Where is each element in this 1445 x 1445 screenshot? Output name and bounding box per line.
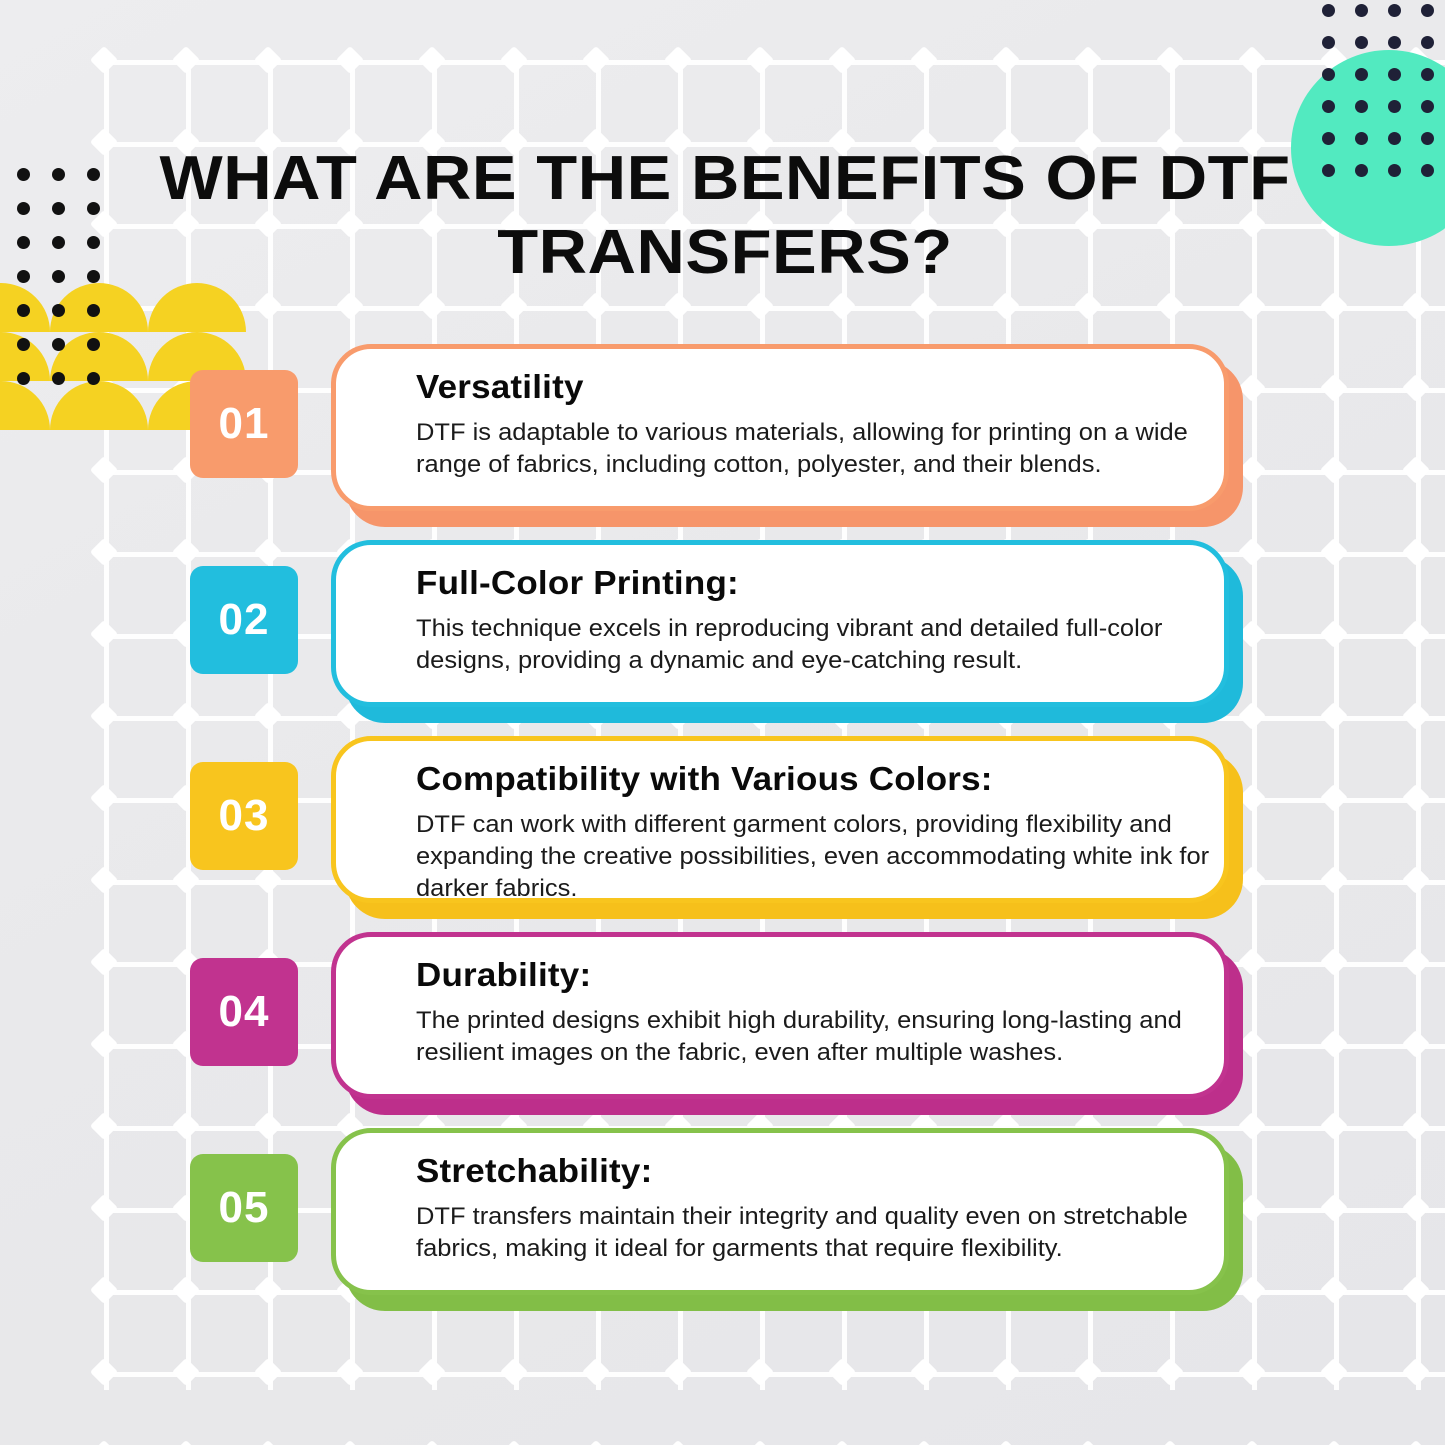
decorative-dot [1322,164,1335,177]
benefit-number-label: 04 [219,987,270,1037]
grid-diamond [664,292,692,320]
decorative-dot [87,202,100,215]
benefit-card-body: Durability:The printed designs exhibit h… [331,932,1229,1099]
decorative-dot [87,372,100,385]
benefit-number-label: 03 [219,791,270,841]
decorative-dot [1355,100,1368,113]
grid-diamond [90,128,118,156]
grid-diamond [418,46,446,74]
benefit-row: 02Full-Color Printing:This technique exc… [0,536,1445,732]
decorative-dot [87,168,100,181]
grid-diamond [828,1358,856,1386]
grid-diamond [1238,1358,1266,1386]
grid-diamond [910,1358,938,1386]
decorative-dot [1388,100,1401,113]
benefits-list: 01VersatilityDTF is adaptable to various… [0,340,1445,1320]
decorative-dot [52,168,65,181]
page-title: WHAT ARE THE BENEFITS OF DTF TRANSFERS? [136,142,1313,290]
grid-diamond [746,292,774,320]
benefit-card[interactable]: Compatibility with Various Colors:DTF ca… [331,736,1229,903]
benefit-number-badge[interactable]: 03 [190,762,298,870]
grid-diamond [500,1440,528,1445]
grid-diamond [582,292,610,320]
grid-diamond [746,46,774,74]
benefit-number-badge[interactable]: 04 [190,958,298,1066]
decorative-dot [1388,132,1401,145]
decorative-dot [1322,68,1335,81]
decorative-dot [1355,68,1368,81]
benefit-description: DTF can work with different garment colo… [416,809,1221,903]
decorative-dot [52,372,65,385]
benefit-card-body: Stretchability:DTF transfers maintain th… [331,1128,1229,1295]
decorative-dot [1388,164,1401,177]
decorative-dot [1355,132,1368,145]
grid-diamond [90,1358,118,1386]
benefit-heading: Versatility [416,367,1229,407]
grid-diamond [1402,1358,1430,1386]
decorative-dot [1388,68,1401,81]
benefit-card[interactable]: Stretchability:DTF transfers maintain th… [331,1128,1229,1295]
decorative-dot [1421,164,1434,177]
benefit-row: 05Stretchability:DTF transfers maintain … [0,1124,1445,1320]
decorative-dot [52,202,65,215]
grid-diamond [992,46,1020,74]
decorative-dot [1421,68,1434,81]
grid-diamond [746,1358,774,1386]
benefit-number-label: 02 [219,595,270,645]
grid-diamond [172,1440,200,1445]
grid-diamond [254,292,282,320]
grid-diamond [1238,46,1266,74]
decorative-dot [1388,4,1401,17]
benefit-heading: Compatibility with Various Colors: [416,759,1229,799]
grid-diamond [582,1358,610,1386]
benefit-number-badge[interactable]: 01 [190,370,298,478]
benefit-description: DTF is adaptable to various materials, a… [416,417,1221,481]
grid-diamond [172,1358,200,1386]
grid-diamond [1402,1440,1430,1445]
decorative-dot [1322,36,1335,49]
benefit-description: This technique excels in reproducing vib… [416,613,1221,677]
decorative-dot [87,270,100,283]
grid-diamond [992,1358,1020,1386]
grid-diamond [582,46,610,74]
grid-diamond [336,46,364,74]
decorative-dot [1322,132,1335,145]
decorative-dot [87,304,100,317]
decorative-dot [1388,36,1401,49]
grid-diamond [1320,1358,1348,1386]
grid-diamond [1074,46,1102,74]
benefit-card-body: Compatibility with Various Colors:DTF ca… [331,736,1229,903]
grid-diamond [90,1440,118,1445]
decorative-dot [17,168,30,181]
benefit-card[interactable]: VersatilityDTF is adaptable to various m… [331,344,1229,511]
benefit-heading: Durability: [416,955,1229,995]
grid-diamond [1156,46,1184,74]
decorative-dot [1355,4,1368,17]
benefit-number-label: 05 [219,1183,270,1233]
grid-diamond [992,1440,1020,1445]
grid-diamond [336,292,364,320]
grid-diamond [254,46,282,74]
grid-diamond [1156,1358,1184,1386]
grid-diamond [1156,292,1184,320]
grid-diamond [500,1358,528,1386]
decorative-dot [52,338,65,351]
decorative-dot [1421,4,1434,17]
benefit-number-badge[interactable]: 02 [190,566,298,674]
grid-diamond [90,46,118,74]
benefit-heading: Full-Color Printing: [416,563,1229,603]
grid-diamond [1320,1440,1348,1445]
grid-diamond [910,292,938,320]
decorative-dot [52,236,65,249]
grid-diamond [582,1440,610,1445]
mint-circle-decoration [1291,50,1445,246]
grid-diamond [336,1440,364,1445]
decorative-dot [1421,36,1434,49]
grid-diamond [1402,292,1430,320]
grid-diamond [910,46,938,74]
grid-diamond [828,1440,856,1445]
benefit-row: 01VersatilityDTF is adaptable to various… [0,340,1445,536]
grid-diamond [172,46,200,74]
decorative-dot [87,236,100,249]
grid-diamond [254,1440,282,1445]
grid-diamond [418,1358,446,1386]
grid-diamond [336,1358,364,1386]
grid-diamond [1074,1440,1102,1445]
grid-diamond [664,46,692,74]
grid-diamond [664,1440,692,1445]
decorative-dot [17,338,30,351]
decorative-dot [1355,164,1368,177]
decorative-dot [1355,36,1368,49]
grid-diamond [1156,1440,1184,1445]
benefit-card-body: Full-Color Printing:This technique excel… [331,540,1229,707]
decorative-dot [17,270,30,283]
decorative-dot [52,270,65,283]
benefit-card[interactable]: Durability:The printed designs exhibit h… [331,932,1229,1099]
grid-diamond [746,1440,774,1445]
infographic-poster: WHAT ARE THE BENEFITS OF DTF TRANSFERS? … [0,0,1445,1445]
grid-diamond [418,292,446,320]
benefit-row: 03Compatibility with Various Colors:DTF … [0,732,1445,928]
decorative-dot [17,372,30,385]
grid-diamond [828,292,856,320]
decorative-dot [17,202,30,215]
decorative-dot [17,236,30,249]
benefit-heading: Stretchability: [416,1151,1229,1191]
grid-diamond [500,46,528,74]
grid-diamond [418,1440,446,1445]
benefit-card[interactable]: Full-Color Printing:This technique excel… [331,540,1229,707]
grid-diamond [992,292,1020,320]
grid-diamond [828,46,856,74]
grid-diamond [1238,1440,1266,1445]
decorative-dot [1421,132,1434,145]
benefit-row: 04Durability:The printed designs exhibit… [0,928,1445,1124]
decorative-dot [1322,100,1335,113]
grid-diamond [1074,292,1102,320]
grid-diamond [910,1440,938,1445]
yellow-half-circle [148,283,246,332]
benefit-description: The printed designs exhibit high durabil… [416,1005,1221,1069]
grid-diamond [254,1358,282,1386]
grid-diamond [664,1358,692,1386]
decorative-dot [52,304,65,317]
benefit-card-body: VersatilityDTF is adaptable to various m… [331,344,1229,511]
decorative-dot [1322,4,1335,17]
grid-diamond [1238,292,1266,320]
decorative-dot [1421,100,1434,113]
grid-diamond [1074,1358,1102,1386]
benefit-number-badge[interactable]: 05 [190,1154,298,1262]
decorative-dot [17,304,30,317]
grid-diamond [500,292,528,320]
decorative-dot [87,338,100,351]
benefit-description: DTF transfers maintain their integrity a… [416,1201,1221,1265]
grid-diamond [1320,292,1348,320]
benefit-number-label: 01 [219,399,270,449]
